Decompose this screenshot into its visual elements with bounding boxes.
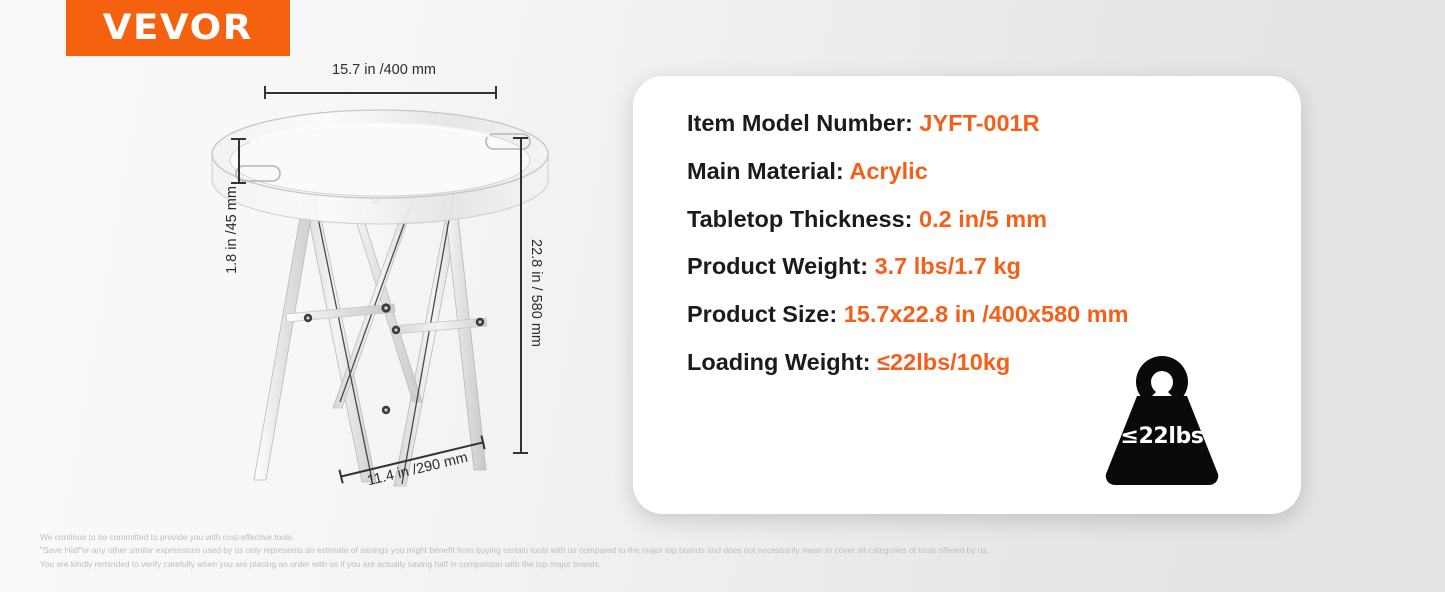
- footer-line-1: We continue to be committed to provide y…: [40, 531, 1330, 544]
- dimension-tick-height-bottom: [513, 452, 528, 454]
- spec-label-product-size: Product Size:: [687, 301, 837, 327]
- dimension-tick-width-left: [264, 86, 266, 99]
- vevor-logo: VEVOR: [66, 0, 290, 56]
- product-diagram: 15.7 in /400 mm 1.8 in /45 mm 22.8 in / …: [190, 50, 590, 530]
- weight-badge-label: ≤22lbs: [1096, 424, 1228, 449]
- dimension-line-width: [264, 92, 497, 94]
- brand-wordmark: VEVOR: [103, 8, 253, 48]
- dimension-tick-rim-top: [231, 138, 246, 140]
- spec-row-product-weight: Product Weight: 3.7 lbs/1.7 kg: [687, 251, 1129, 282]
- spec-value-main-material: Acrylic: [849, 158, 927, 184]
- dimension-tick-height-top: [513, 137, 528, 139]
- dimension-line-height: [520, 137, 522, 453]
- dimension-label-rim: 1.8 in /45 mm: [224, 165, 240, 295]
- spec-label-loading-weight: Loading Weight:: [687, 349, 871, 375]
- spec-row-tabletop-thickness: Tabletop Thickness: 0.2 in/5 mm: [687, 204, 1129, 235]
- spec-value-product-weight: 3.7 lbs/1.7 kg: [875, 253, 1021, 279]
- spec-value-product-size: 15.7x22.8 in /400x580 mm: [844, 301, 1129, 327]
- loading-weight-icon: ≤22lbs: [1096, 352, 1228, 486]
- spec-value-item-model-number: JYFT-001R: [919, 110, 1039, 136]
- dimension-tick-width-right: [495, 86, 497, 99]
- spec-value-tabletop-thickness: 0.2 in/5 mm: [919, 206, 1047, 232]
- footer-disclaimer: We continue to be committed to provide y…: [40, 531, 1330, 571]
- specification-list: Item Model Number: JYFT-001R Main Materi…: [687, 108, 1129, 395]
- spec-row-loading-weight: Loading Weight: ≤22lbs/10kg: [687, 347, 1129, 378]
- weight-glyph-icon: [1096, 352, 1228, 486]
- spec-label-item-model-number: Item Model Number:: [687, 110, 913, 136]
- footer-line-2: "Save Half"or any other similar expressi…: [40, 544, 1330, 557]
- spec-row-main-material: Main Material: Acrylic: [687, 156, 1129, 187]
- spec-label-tabletop-thickness: Tabletop Thickness:: [687, 206, 912, 232]
- dimension-label-width: 15.7 in /400 mm: [274, 62, 494, 78]
- spec-label-main-material: Main Material:: [687, 158, 844, 184]
- spec-label-product-weight: Product Weight:: [687, 253, 868, 279]
- footer-line-3: You are kindly reminded to verify carefu…: [40, 558, 1330, 571]
- spec-value-loading-weight: ≤22lbs/10kg: [877, 349, 1010, 375]
- spec-row-item-model-number: Item Model Number: JYFT-001R: [687, 108, 1129, 139]
- spec-row-product-size: Product Size: 15.7x22.8 in /400x580 mm: [687, 299, 1129, 330]
- dimension-label-height: 22.8 in / 580 mm: [528, 213, 544, 373]
